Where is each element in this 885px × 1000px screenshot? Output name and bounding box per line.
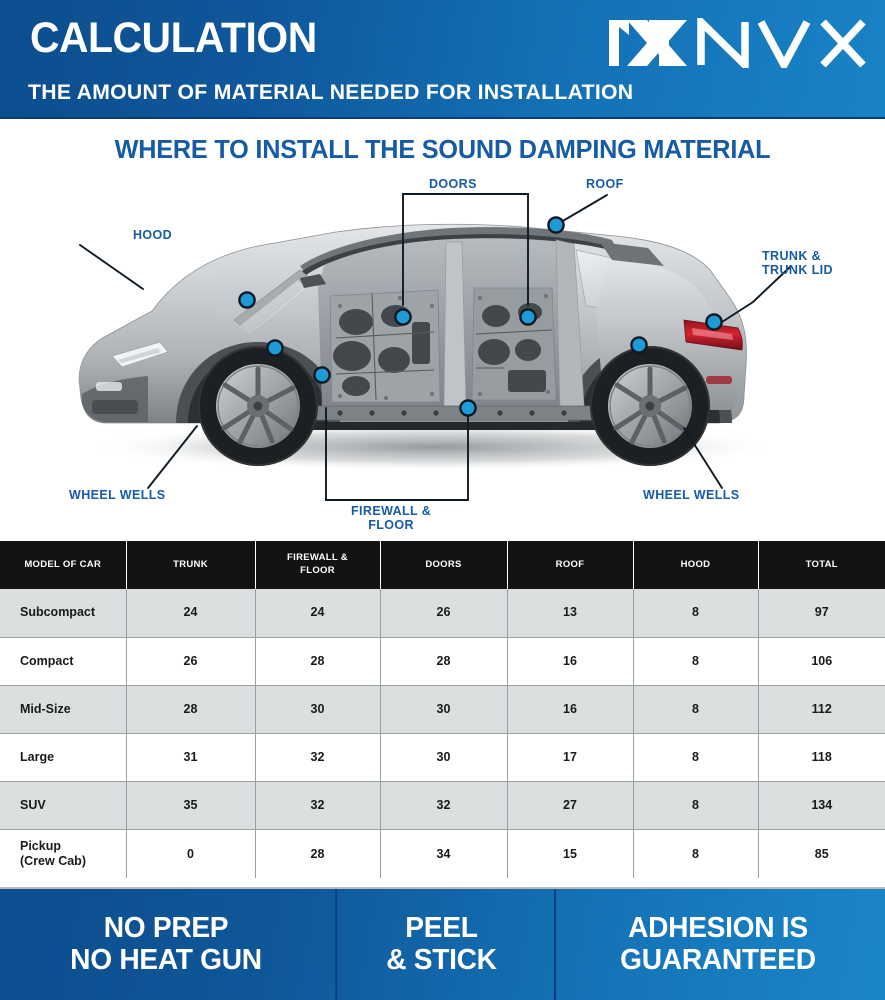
- material-table: MODEL OF CAR TRUNK FIREWALL & FLOOR DOOR…: [0, 541, 885, 878]
- cell-hood: 8: [633, 637, 758, 685]
- cell-roof: 27: [507, 782, 633, 830]
- cell-doors: 34: [380, 830, 507, 878]
- cell-firewall-floor: 32: [255, 734, 380, 782]
- label-trunk-and-trunk-lid: TRUNK & TRUNK LID: [762, 249, 833, 278]
- cell-total: 97: [758, 589, 885, 637]
- th-doors: DOORS: [380, 541, 507, 589]
- cell-firewall-floor: 28: [255, 637, 380, 685]
- label-roof: ROOF: [586, 177, 624, 191]
- cell-trunk: 26: [126, 637, 255, 685]
- table-header-row: MODEL OF CAR TRUNK FIREWALL & FLOOR DOOR…: [0, 541, 885, 589]
- th-trunk: TRUNK: [126, 541, 255, 589]
- cell-firewall-floor: 30: [255, 685, 380, 733]
- rear-wheel-icon: [590, 346, 710, 466]
- cell-model: Compact: [0, 637, 126, 685]
- cell-doors: 26: [380, 589, 507, 637]
- page-title: CALCULATION: [30, 17, 317, 60]
- cell-total: 85: [758, 830, 885, 878]
- cell-doors: 28: [380, 637, 507, 685]
- table-row: Subcompact 24 24 26 13 8 97: [0, 589, 885, 637]
- cell-doors: 30: [380, 734, 507, 782]
- cell-hood: 8: [633, 734, 758, 782]
- label-wheel-wells-front: WHEEL WELLS: [69, 488, 166, 502]
- cell-hood: 8: [633, 685, 758, 733]
- header-bottom-rule: [0, 117, 885, 119]
- table-row: SUV 35 32 32 27 8 134: [0, 782, 885, 830]
- cell-total: 106: [758, 637, 885, 685]
- cell-roof: 16: [507, 637, 633, 685]
- label-firewall-and-floor: FIREWALL & FLOOR: [351, 504, 431, 533]
- cell-total: 134: [758, 782, 885, 830]
- table-row: Large 31 32 30 17 8 118: [0, 734, 885, 782]
- cell-roof: 15: [507, 830, 633, 878]
- cell-roof: 17: [507, 734, 633, 782]
- th-hood: HOOD: [633, 541, 758, 589]
- cell-roof: 13: [507, 589, 633, 637]
- th-firewall-floor: FIREWALL & FLOOR: [255, 541, 380, 589]
- vehicle-diagram: HOOD DOORS ROOF TRUNK & TRUNK LID WHEEL …: [0, 170, 885, 540]
- cell-trunk: 31: [126, 734, 255, 782]
- suv-side-cutaway-icon: [0, 170, 885, 540]
- th-roof: ROOF: [507, 541, 633, 589]
- nvx-logo-icon: [609, 18, 867, 68]
- front-wheel-icon: [198, 346, 318, 466]
- infographic-page: CALCULATION THE AMOUNT OF MATERIAL NEEDE…: [0, 0, 885, 1000]
- th-total: TOTAL: [758, 541, 885, 589]
- label-doors: DOORS: [429, 177, 477, 191]
- th-model-of-car: MODEL OF CAR: [0, 541, 126, 589]
- cell-model: Large: [0, 734, 126, 782]
- table-row: Compact 26 28 28 16 8 106: [0, 637, 885, 685]
- cell-total: 112: [758, 685, 885, 733]
- cell-trunk: 35: [126, 782, 255, 830]
- header-banner: CALCULATION THE AMOUNT OF MATERIAL NEEDE…: [0, 0, 885, 119]
- cell-firewall-floor: 24: [255, 589, 380, 637]
- cell-model: Mid-Size: [0, 685, 126, 733]
- section-title: WHERE TO INSTALL THE SOUND DAMPING MATER…: [4, 136, 880, 165]
- cell-trunk: 28: [126, 685, 255, 733]
- cell-hood: 8: [633, 589, 758, 637]
- cell-doors: 32: [380, 782, 507, 830]
- footer-peel-and-stick: PEEL & STICK: [335, 889, 545, 1000]
- footer-no-prep-no-heat-gun: NO PREP NO HEAT GUN: [5, 889, 327, 1000]
- page-subtitle: THE AMOUNT OF MATERIAL NEEDED FOR INSTAL…: [28, 82, 846, 104]
- label-wheel-wells-rear: WHEEL WELLS: [643, 488, 740, 502]
- cell-model: Pickup (Crew Cab): [0, 830, 126, 878]
- cell-hood: 8: [633, 830, 758, 878]
- cell-hood: 8: [633, 782, 758, 830]
- cell-doors: 30: [380, 685, 507, 733]
- cell-trunk: 24: [126, 589, 255, 637]
- cell-model: SUV: [0, 782, 126, 830]
- cell-model: Subcompact: [0, 589, 126, 637]
- table-row: Mid-Size 28 30 30 16 8 112: [0, 685, 885, 733]
- table-row: Pickup (Crew Cab) 0 28 34 15 8 85: [0, 830, 885, 878]
- cell-firewall-floor: 28: [255, 830, 380, 878]
- footer-adhesion-guaranteed: ADHESION IS GUARANTEED: [554, 889, 880, 1000]
- cell-total: 118: [758, 734, 885, 782]
- footer-banner: NO PREP NO HEAT GUN PEEL & STICK ADHESIO…: [0, 889, 885, 1000]
- cell-trunk: 0: [126, 830, 255, 878]
- label-hood: HOOD: [133, 228, 172, 242]
- cell-firewall-floor: 32: [255, 782, 380, 830]
- cell-roof: 16: [507, 685, 633, 733]
